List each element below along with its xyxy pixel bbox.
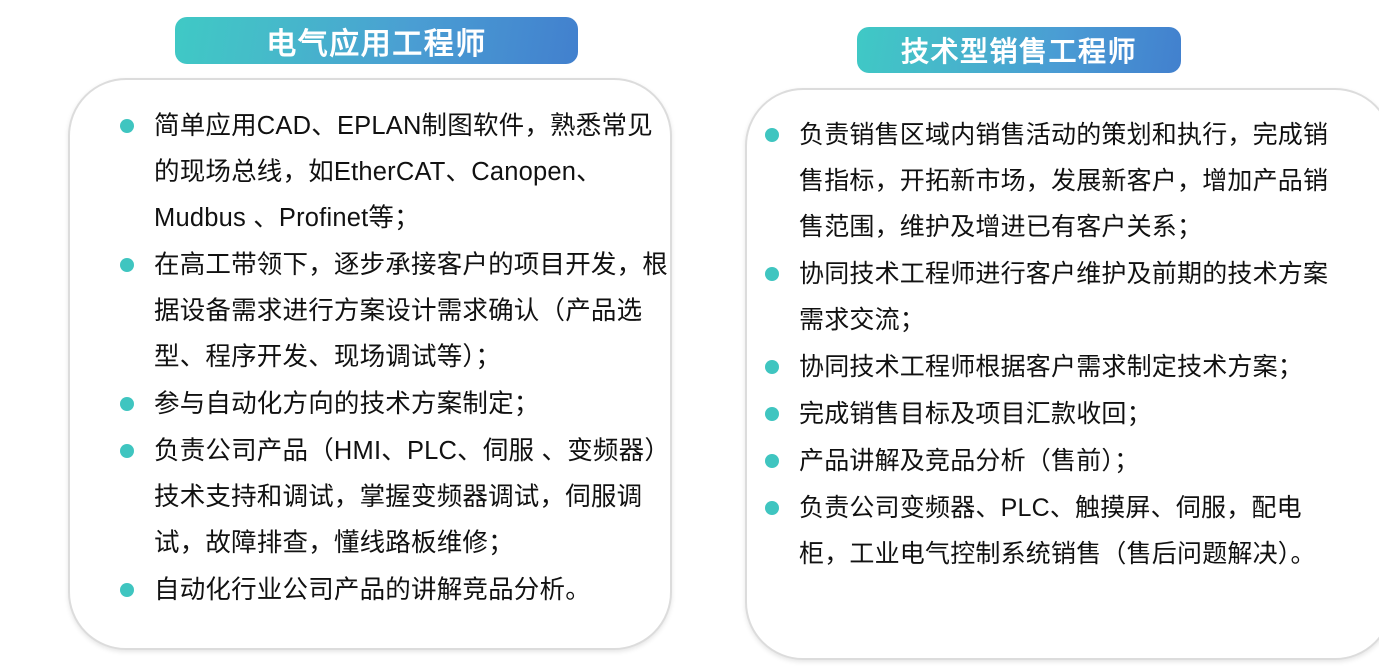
- list-item-text: 负责销售区域内销售活动的策划和执行，完成销售指标，开拓新市场，发展新客户，增加产…: [799, 112, 1342, 250]
- list-item-text: 完成销售目标及项目汇款收回；: [799, 391, 1342, 437]
- list-item-text: 负责公司变频器、PLC、触摸屏、伺服，配电柜，工业电气控制系统销售（售后问题解决…: [799, 485, 1342, 577]
- panel-title-technical-sales-engineer: 技术型销售工程师: [857, 27, 1181, 73]
- list-item: 负责销售区域内销售活动的策划和执行，完成销售指标，开拓新市场，发展新客户，增加产…: [757, 112, 1342, 250]
- list-item: 参与自动化方向的技术方案制定；: [112, 381, 672, 427]
- list-item-text: 负责公司产品（HMI、PLC、伺服 、变频器）技术支持和调试，掌握变频器调试，伺…: [154, 428, 672, 566]
- list-item: 产品讲解及竞品分析（售前）；: [757, 438, 1342, 484]
- panel-title-electrical-application-engineer: 电气应用工程师: [175, 17, 578, 64]
- bullet-dot-icon: [765, 267, 779, 281]
- list-item-text: 简单应用CAD、EPLAN制图软件，熟悉常见的现场总线，如EtherCAT、Ca…: [154, 103, 672, 241]
- list-item: 负责公司变频器、PLC、触摸屏、伺服，配电柜，工业电气控制系统销售（售后问题解决…: [757, 485, 1342, 577]
- list-item-text: 自动化行业公司产品的讲解竞品分析。: [154, 567, 672, 613]
- bullet-dot-icon: [120, 119, 134, 133]
- bullet-dot-icon: [765, 501, 779, 515]
- list-item-text: 产品讲解及竞品分析（售前）；: [799, 438, 1342, 484]
- bullet-dot-icon: [120, 583, 134, 597]
- responsibility-list-electrical-application-engineer: 简单应用CAD、EPLAN制图软件，熟悉常见的现场总线，如EtherCAT、Ca…: [112, 103, 672, 614]
- bullet-dot-icon: [765, 128, 779, 142]
- list-item-text: 协同技术工程师进行客户维护及前期的技术方案需求交流；: [799, 251, 1342, 343]
- list-item: 协同技术工程师进行客户维护及前期的技术方案需求交流；: [757, 251, 1342, 343]
- list-item-text: 在高工带领下，逐步承接客户的项目开发，根据设备需求进行方案设计需求确认（产品选型…: [154, 242, 672, 380]
- list-item-text: 协同技术工程师根据客户需求制定技术方案；: [799, 344, 1342, 390]
- list-item-text: 参与自动化方向的技术方案制定；: [154, 381, 672, 427]
- list-item: 完成销售目标及项目汇款收回；: [757, 391, 1342, 437]
- bullet-dot-icon: [120, 258, 134, 272]
- list-item: 协同技术工程师根据客户需求制定技术方案；: [757, 344, 1342, 390]
- list-item: 在高工带领下，逐步承接客户的项目开发，根据设备需求进行方案设计需求确认（产品选型…: [112, 242, 672, 380]
- bullet-dot-icon: [765, 407, 779, 421]
- list-item: 简单应用CAD、EPLAN制图软件，熟悉常见的现场总线，如EtherCAT、Ca…: [112, 103, 672, 241]
- list-item: 负责公司产品（HMI、PLC、伺服 、变频器）技术支持和调试，掌握变频器调试，伺…: [112, 428, 672, 566]
- bullet-dot-icon: [120, 397, 134, 411]
- bullet-dot-icon: [765, 360, 779, 374]
- slide-canvas: 电气应用工程师 简单应用CAD、EPLAN制图软件，熟悉常见的现场总线，如Eth…: [0, 0, 1379, 670]
- bullet-dot-icon: [765, 454, 779, 468]
- responsibility-list-technical-sales-engineer: 负责销售区域内销售活动的策划和执行，完成销售指标，开拓新市场，发展新客户，增加产…: [757, 112, 1342, 578]
- list-item: 自动化行业公司产品的讲解竞品分析。: [112, 567, 672, 613]
- bullet-dot-icon: [120, 444, 134, 458]
